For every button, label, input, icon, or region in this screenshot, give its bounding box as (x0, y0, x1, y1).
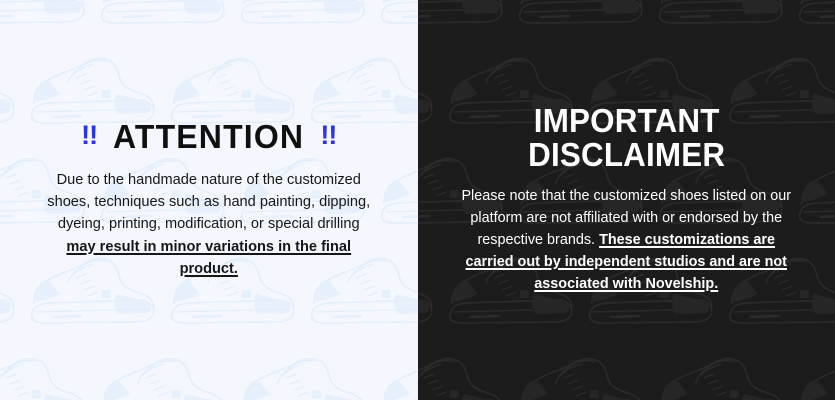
disclaimer-body: Please note that the customized shoes li… (459, 186, 794, 295)
disclaimer-heading: IMPORTANT DISCLAIMER (528, 104, 725, 171)
disclaimer-title-line1: IMPORTANT (528, 104, 725, 138)
disclaimer-title-line2: DISCLAIMER (528, 138, 725, 172)
attention-body-normal: Due to the handmade nature of the custom… (47, 172, 370, 232)
split-disclaimer-banner: !! ATTENTION !! Due to the handmade natu… (0, 0, 835, 400)
exclamation-right-icon: !! (320, 122, 336, 149)
attention-panel: !! ATTENTION !! Due to the handmade natu… (0, 0, 418, 400)
attention-title: ATTENTION (113, 120, 304, 153)
attention-body-emphasis: may result in minor variations in the fi… (66, 239, 351, 277)
disclaimer-panel: IMPORTANT DISCLAIMER Please note that th… (418, 0, 835, 400)
attention-content: !! ATTENTION !! Due to the handmade natu… (0, 0, 418, 400)
exclamation-left-icon: !! (81, 122, 97, 149)
attention-heading: !! ATTENTION !! (81, 120, 336, 153)
disclaimer-content: IMPORTANT DISCLAIMER Please note that th… (418, 0, 835, 400)
attention-body: Due to the handmade nature of the custom… (44, 169, 374, 280)
